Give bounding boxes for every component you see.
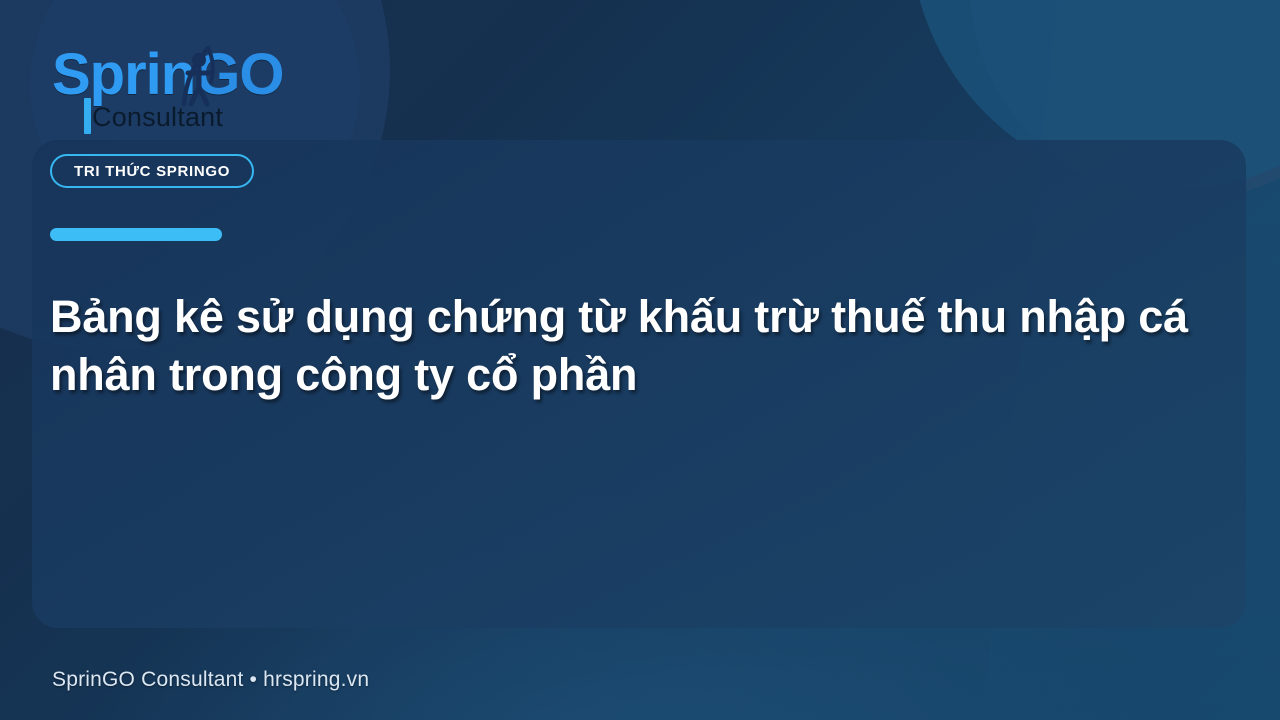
slide-canvas: SprinGO Consultant TRI THỨC SPRINGO Bảng… bbox=[0, 0, 1280, 720]
category-badge[interactable]: TRI THỨC SPRINGO bbox=[50, 154, 254, 188]
logo-wordmark: SprinGO bbox=[52, 46, 283, 104]
brand-logo: SprinGO Consultant bbox=[52, 46, 302, 142]
page-title: Bảng kê sử dụng chứng từ khấu trừ thuế t… bbox=[50, 288, 1220, 403]
title-accent-bar bbox=[50, 228, 222, 241]
category-badge-label: TRI THỨC SPRINGO bbox=[74, 163, 230, 180]
logo-subtitle: Consultant bbox=[92, 104, 223, 131]
logo-accent-tick bbox=[84, 98, 91, 134]
footer-attribution: SprinGO Consultant • hrspring.vn bbox=[52, 668, 369, 692]
